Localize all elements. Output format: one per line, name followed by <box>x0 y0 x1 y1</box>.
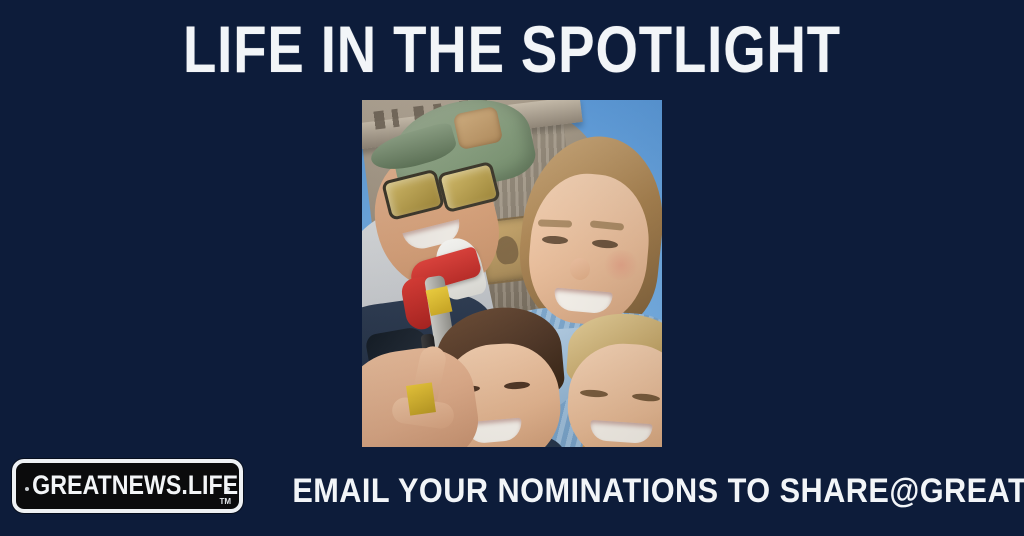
family-photo-image <box>362 100 662 447</box>
mother-eyebrow-left <box>538 219 572 227</box>
mother-cheek <box>602 250 640 280</box>
nominations-cta: EMAIL YOUR NOMINATIONS TO SHARE@GREATNEW… <box>292 473 991 507</box>
trademark-symbol: TM <box>219 498 231 506</box>
mother-nose <box>570 258 590 280</box>
spotlight-poster: LIFE IN THE SPOTLIGHT <box>0 0 1024 536</box>
page-title: LIFE IN THE SPOTLIGHT <box>61 18 962 84</box>
plate-bolt-left-icon <box>25 487 29 491</box>
greatnews-life-logo[interactable]: GREATNEWS.LIFE TM <box>12 459 243 513</box>
logo-brand-text: GREATNEWS.LIFE <box>32 472 231 499</box>
toy-yellow-lower <box>406 382 436 415</box>
family-photo <box>362 100 662 447</box>
